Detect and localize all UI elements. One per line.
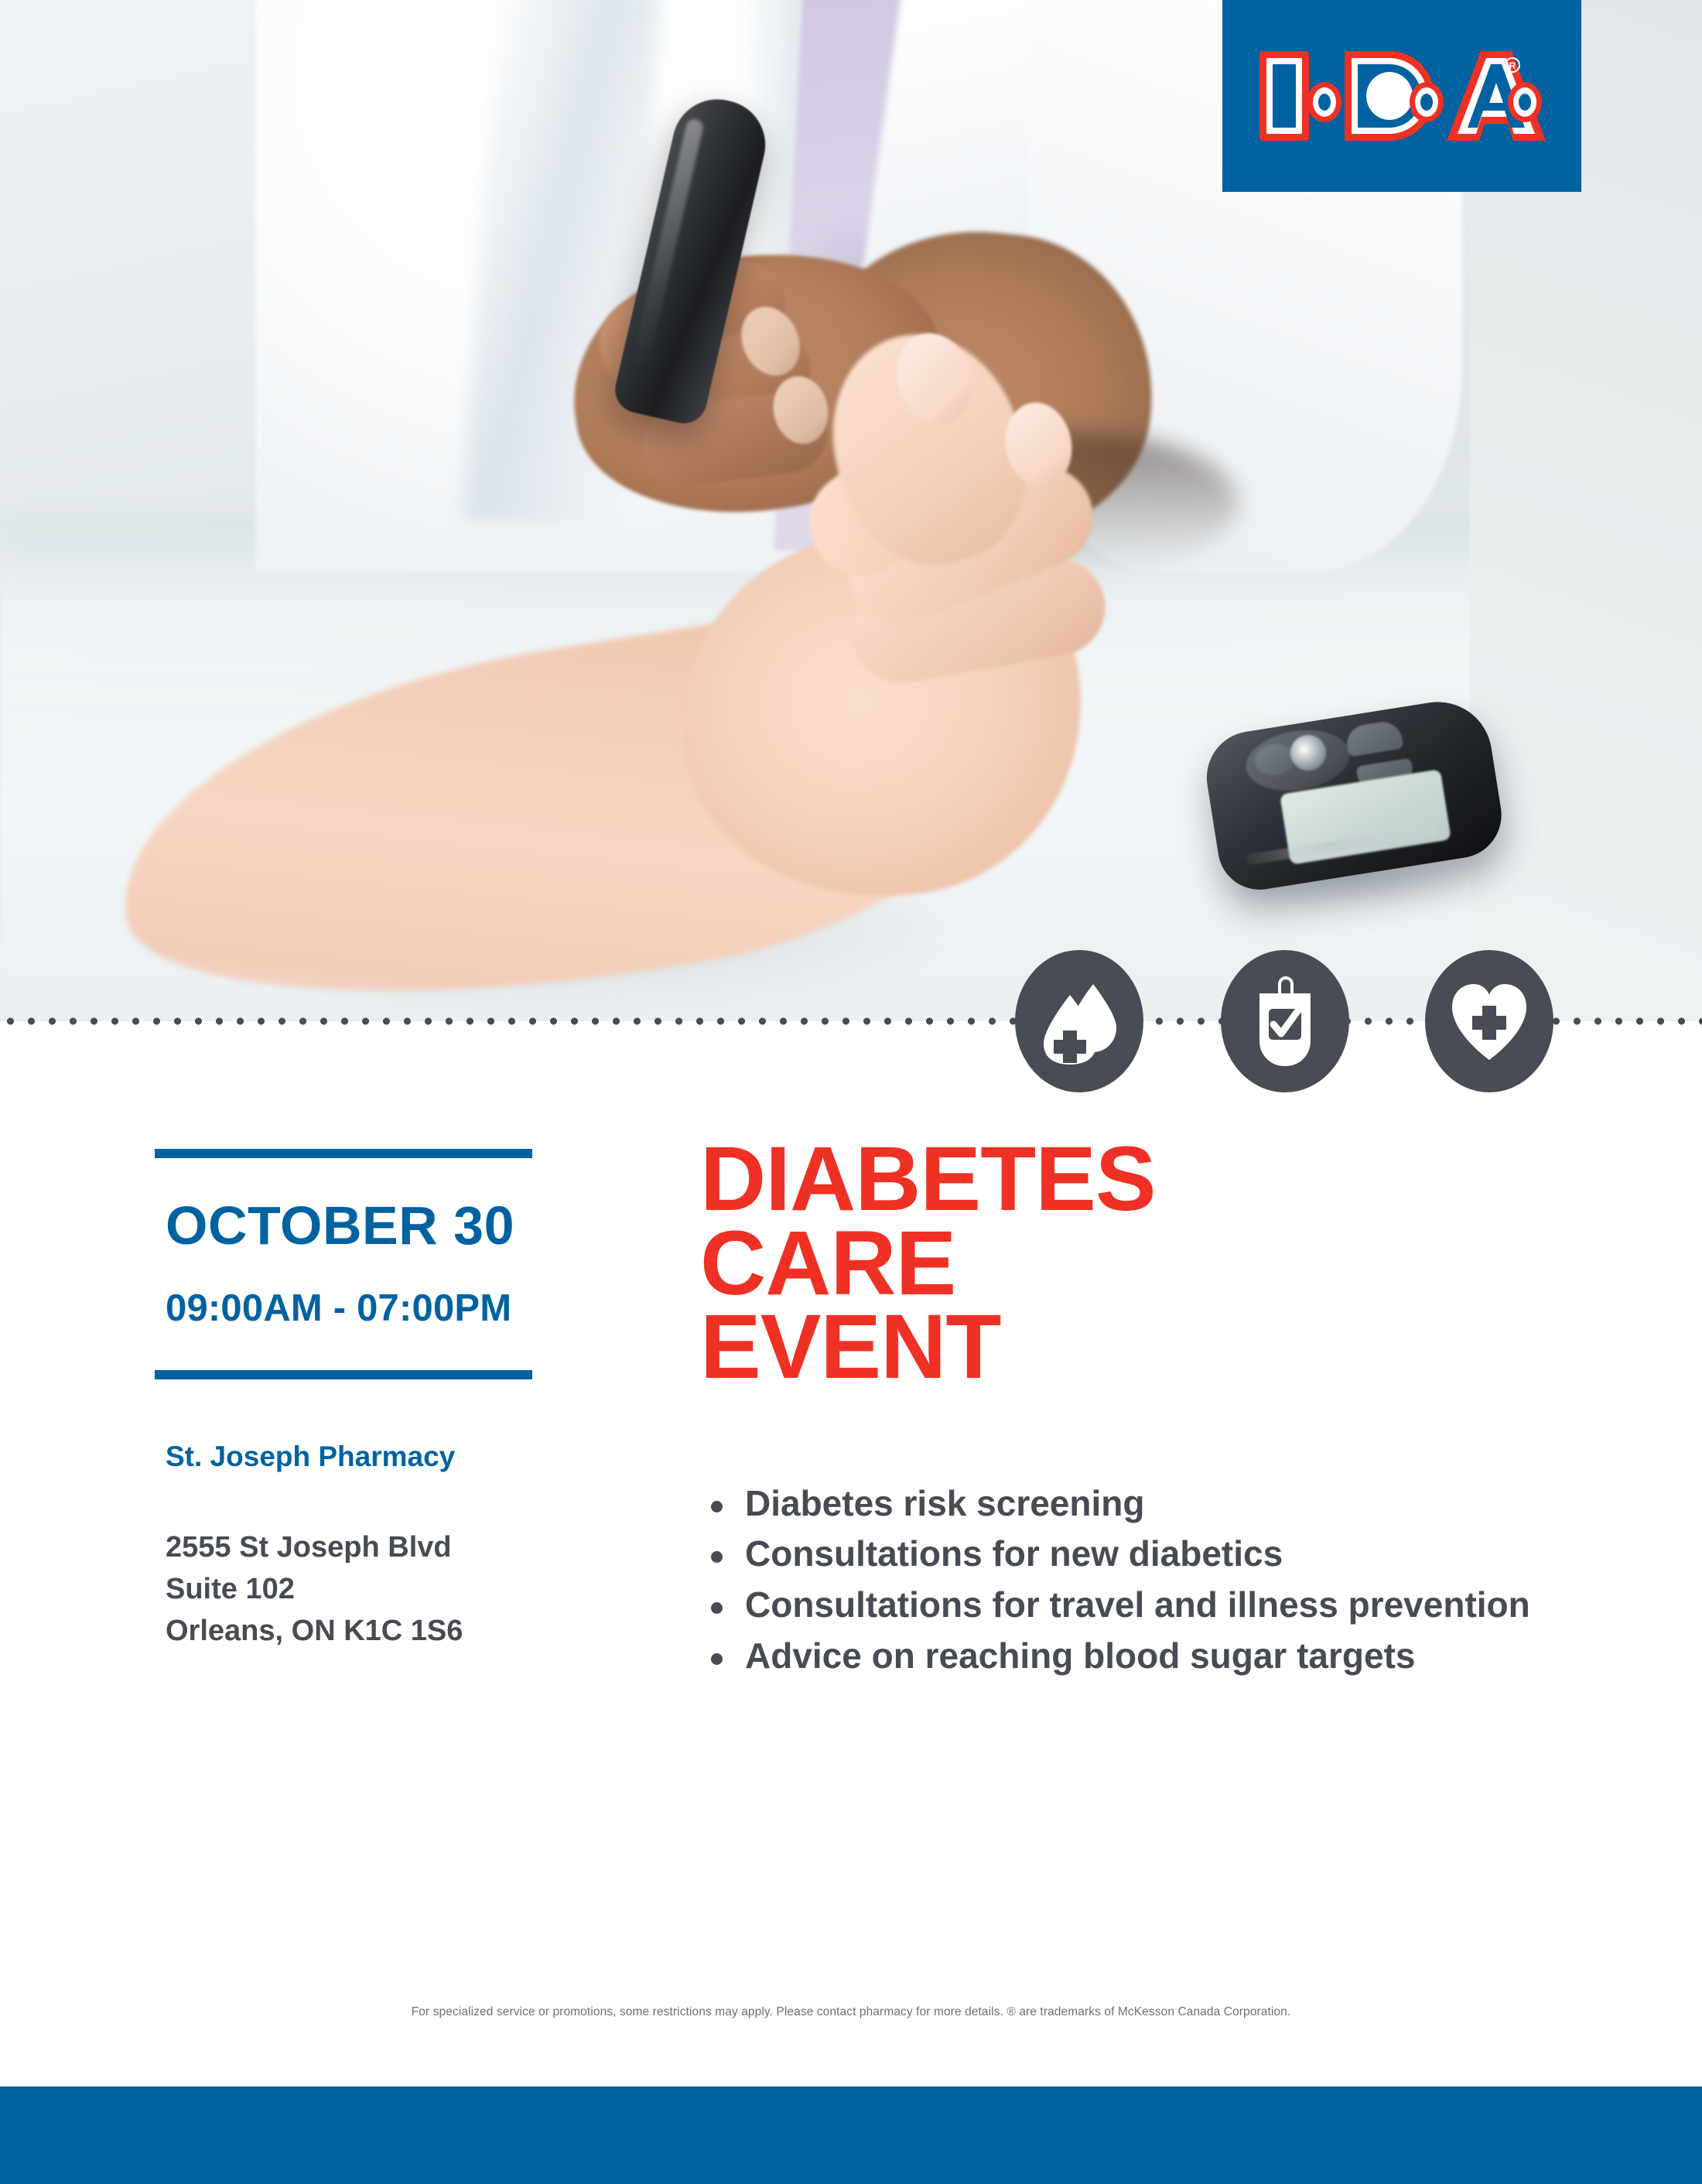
title-line-1: DIABETES: [700, 1137, 1636, 1222]
glucose-meter-check-icon: [1221, 950, 1349, 1092]
address-line-1: 2555 St Joseph Blvd: [166, 1527, 542, 1569]
event-headline-column: DIABETES CARE EVENT Diabetes risk screen…: [700, 1137, 1636, 1684]
heart-plus-glyph: [1449, 983, 1529, 1060]
flyer-content: OCTOBER 30 09:00AM - 07:00PM St. Joseph …: [0, 1029, 1702, 2066]
benefits-list: Diabetes risk screening Consultations fo…: [700, 1481, 1636, 1680]
ida-logo-icon: R: [1255, 46, 1549, 145]
list-item: Consultations for new diabetics: [700, 1531, 1636, 1577]
rule-above-date: [155, 1149, 532, 1158]
title-line-2: CARE: [700, 1222, 1636, 1306]
event-date: OCTOBER 30: [166, 1198, 542, 1253]
address-line-2: Suite 102: [166, 1569, 542, 1611]
pharmacy-name: St. Joseph Pharmacy: [166, 1441, 542, 1473]
svg-text:R: R: [1509, 60, 1516, 71]
heart-plus-icon: [1425, 950, 1553, 1092]
event-details-column: OCTOBER 30 09:00AM - 07:00PM St. Joseph …: [155, 1149, 542, 1653]
rule-below-time: [155, 1370, 532, 1379]
service-icon-row: [0, 950, 1702, 1092]
page-title: DIABETES CARE EVENT: [700, 1137, 1636, 1389]
address-line-3: Orleans, ON K1C 1S6: [166, 1611, 542, 1653]
list-item: Advice on reaching blood sugar targets: [700, 1633, 1636, 1680]
glucose-meter-check-glyph: [1253, 976, 1317, 1066]
list-item: Diabetes risk screening: [700, 1481, 1636, 1527]
pharmacy-address: 2555 St Joseph Blvd Suite 102 Orleans, O…: [166, 1527, 542, 1653]
ida-logo-panel: R: [1222, 0, 1581, 192]
blood-drop-plus-icon: [1015, 950, 1143, 1092]
event-time: 09:00AM - 07:00PM: [166, 1290, 542, 1328]
title-line-3: EVENT: [700, 1305, 1636, 1389]
footer-bar: [0, 2087, 1702, 2184]
legal-fine-print: For specialized service or promotions, s…: [0, 2005, 1702, 2019]
list-item: Consultations for travel and illness pre…: [700, 1582, 1636, 1629]
blood-drop-plus-glyph: [1039, 978, 1119, 1065]
